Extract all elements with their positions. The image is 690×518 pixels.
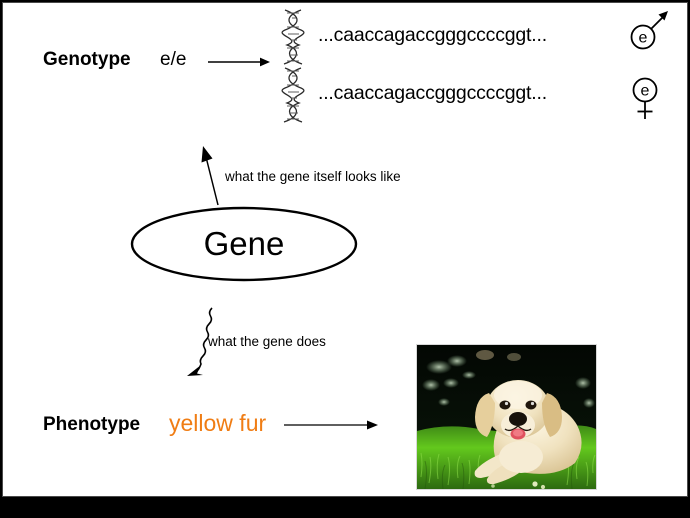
phenotype-arrow-icon <box>284 417 378 438</box>
dna-double-helix-icon <box>275 7 311 67</box>
upward-arrow-icon <box>193 145 229 212</box>
annotation-what-gene-looks-like: what the gene itself looks like <box>225 169 401 184</box>
dna-double-helix-icon <box>275 65 311 125</box>
genotype-allele-pair-value: e/e <box>160 49 186 71</box>
gene-label: Gene <box>129 205 359 283</box>
bottom-black-band <box>0 498 690 518</box>
female-sex-symbol-icon: e <box>627 73 669 132</box>
puppy-photo <box>417 345 596 489</box>
dna-sequence-maternal: ...caaccagaccgggccccggt... <box>318 82 547 105</box>
female-allele-letter: e <box>641 83 650 100</box>
dna-sequence-paternal: ...caaccagaccgggccccggt... <box>318 24 547 47</box>
phenotype-trait-value: yellow fur <box>169 410 266 437</box>
genotype-arrow-icon <box>208 55 270 74</box>
male-allele-letter: e <box>639 30 648 47</box>
male-sex-symbol-icon: e <box>625 5 673 58</box>
annotation-what-gene-does: what the gene does <box>208 334 326 349</box>
slide-root: Genotype e/e <box>0 0 690 518</box>
genotype-label: Genotype <box>43 49 131 71</box>
phenotype-label: Phenotype <box>43 414 140 436</box>
slide-canvas: Genotype e/e <box>2 2 688 497</box>
